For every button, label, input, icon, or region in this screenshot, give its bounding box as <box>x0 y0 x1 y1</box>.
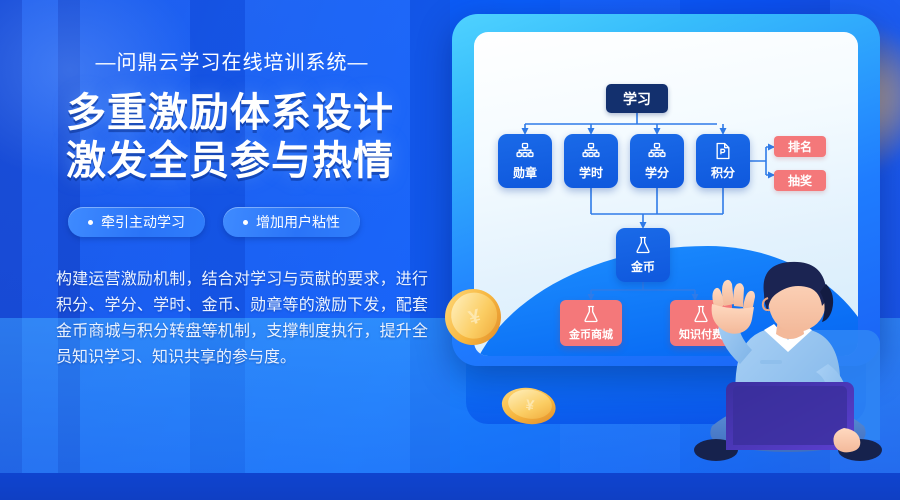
diagram-node-credit-hours-label: 学时 <box>579 164 603 181</box>
diagram-node-points[interactable]: 积分 <box>696 134 750 188</box>
body-paragraph: 构建运营激励机制，结合对学习与贡献的要求，进行积分、学分、学时、金币、勋章等的激… <box>56 267 428 371</box>
diagram-node-coin-label: 金币 <box>631 258 655 275</box>
feature-pill-1[interactable]: 牵引主动学习 <box>68 207 205 237</box>
diagram-node-medal-label: 勋章 <box>513 164 537 181</box>
sitemap-icon <box>647 141 667 161</box>
sitemap-icon <box>515 141 535 161</box>
diagram-tag-lottery-label: 抽奖 <box>788 172 812 189</box>
flask-icon <box>633 235 653 255</box>
diagram-tag-lottery[interactable]: 抽奖 <box>774 170 826 191</box>
bullet-dot-icon <box>243 220 248 225</box>
diagram-node-points-label: 积分 <box>711 164 735 181</box>
feature-pill-2-label: 增加用户粘性 <box>256 212 340 232</box>
diagram-node-coin-mall[interactable]: 金币商城 <box>560 300 622 346</box>
gold-coin-icon: ¥ <box>497 378 561 430</box>
diagram-node-root[interactable]: 学习 <box>606 84 668 113</box>
diagram-node-credit-hours[interactable]: 学时 <box>564 134 618 188</box>
diagram-node-root-label: 学习 <box>623 89 651 109</box>
diagram-node-coin-mall-label: 金币商城 <box>569 326 613 342</box>
person-waving-with-laptop-illustration <box>676 260 900 472</box>
background-bottom-band <box>0 473 900 500</box>
diagram-node-credits-label: 学分 <box>645 164 669 181</box>
feature-pill-1-label: 牵引主动学习 <box>101 212 185 232</box>
diagram-tag-ranking[interactable]: 排名 <box>774 136 826 157</box>
feature-pill-group: 牵引主动学习 增加用户粘性 <box>56 207 436 237</box>
diagram-node-credits[interactable]: 学分 <box>630 134 684 188</box>
bullet-dot-icon <box>88 220 93 225</box>
sitemap-icon <box>581 141 601 161</box>
banner-stage: —问鼎云学习在线培训系统— 多重激励体系设计 激发全员参与热情 牵引主动学习 增… <box>0 0 900 500</box>
diagram-tag-ranking-label: 排名 <box>788 138 812 155</box>
document-p-icon <box>713 141 733 161</box>
copy-block: —问鼎云学习在线培训系统— 多重激励体系设计 激发全员参与热情 牵引主动学习 增… <box>56 46 436 371</box>
feature-pill-2[interactable]: 增加用户粘性 <box>223 207 360 237</box>
eyebrow-text: —问鼎云学习在线培训系统— <box>56 46 408 75</box>
flask-icon <box>581 304 601 324</box>
headline-line-1: 多重激励体系设计 <box>66 89 436 137</box>
diagram-node-medal[interactable]: 勋章 <box>498 134 552 188</box>
page-title: 多重激励体系设计 激发全员参与热情 <box>56 89 436 185</box>
headline-line-2: 激发全员参与热情 <box>66 137 436 185</box>
diagram-node-coin[interactable]: 金币 <box>616 228 670 282</box>
